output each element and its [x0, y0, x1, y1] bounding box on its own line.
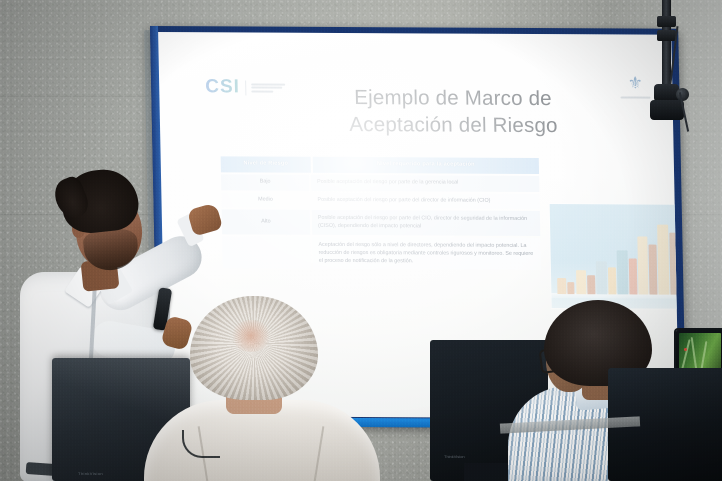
mount-clamp	[657, 16, 676, 27]
chart-bar	[637, 236, 648, 294]
chart-bar	[576, 270, 586, 294]
cell-level	[222, 236, 311, 269]
chart-bar	[608, 267, 617, 294]
cell-requirement: Posible aceptación del riesgo por parte …	[312, 210, 541, 235]
camera-body	[650, 100, 684, 120]
attendee-scalp	[230, 320, 272, 352]
chart-bar	[657, 225, 669, 295]
presentation-photo: CSI ⚜ Ejemplo de Marco de Aceptación del…	[0, 0, 722, 481]
ceiling-camera-mount	[636, 0, 698, 124]
table-row: Bajo Posible aceptación del riesgo por p…	[221, 174, 539, 191]
column-header-level: Nivel de Riesgo	[221, 156, 311, 172]
monitor-stand	[464, 463, 512, 481]
cell-level: Medio	[221, 192, 309, 208]
cell-requirement: Posible aceptación del riesgo por parte …	[311, 175, 539, 192]
cell-level: Bajo	[221, 174, 309, 190]
slide-title-line2: Aceptación del Riesgo	[278, 111, 630, 139]
monitor-brand-label: ThinkVision	[78, 471, 103, 476]
table-row: Aceptación del riesgo sólo a nivel de di…	[222, 236, 541, 270]
chart-bar	[596, 261, 608, 294]
cell-requirement: Posible aceptación del riesgo por parte …	[311, 192, 539, 209]
cell-level: Alto	[222, 210, 311, 235]
bar-chart-illustration	[550, 204, 679, 309]
presenter-pointing-hand	[187, 202, 223, 236]
chart-bar	[617, 250, 629, 294]
slide-title: Ejemplo de Marco de Aceptación del Riesg…	[157, 84, 673, 140]
mount-clamp	[657, 30, 676, 41]
chart-bar	[567, 282, 574, 294]
table-header-row: Nivel de Riesgo Nivel requerido para la …	[221, 156, 539, 174]
cell-requirement: Aceptación del riesgo sólo a nivel de di…	[312, 236, 541, 270]
slide-title-line1: Ejemplo de Marco de	[277, 85, 629, 113]
column-header-requirement: Nivel requerido para la aceptación	[313, 157, 539, 174]
risk-acceptance-table: Nivel de Riesgo Nivel requerido para la …	[221, 156, 541, 269]
table-row: Alto Posible aceptación del riesgo por p…	[222, 210, 541, 236]
chart-bar	[648, 245, 657, 295]
chart-bar	[557, 278, 566, 294]
chart-bar	[629, 258, 638, 294]
monitor-brand-label: ThinkVision	[444, 454, 465, 459]
table-row: Medio Posible aceptación del riesgo por …	[221, 192, 539, 209]
chart-bar	[587, 275, 595, 294]
